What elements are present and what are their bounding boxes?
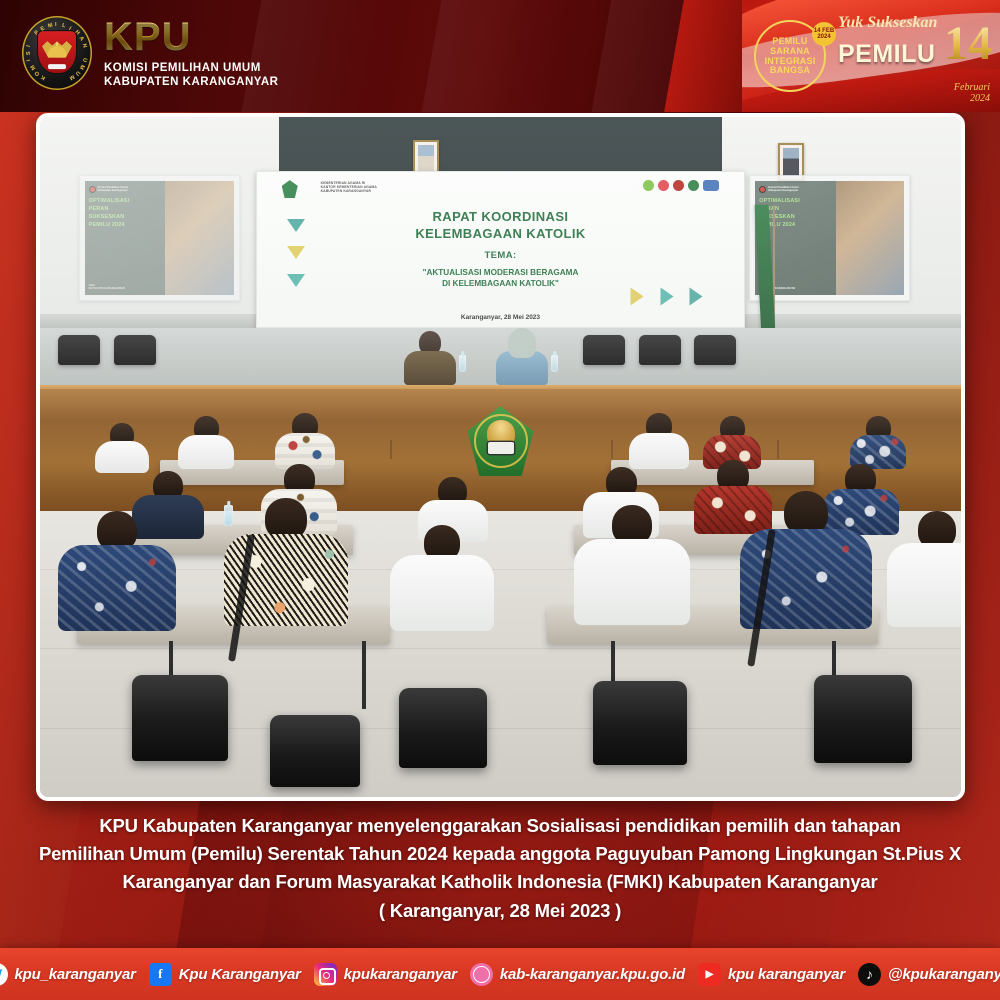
person-torso	[224, 534, 348, 626]
pemilu-day-number: 14	[944, 20, 992, 68]
twitter-handle[interactable]: kpu_karanganyar	[15, 966, 136, 983]
badge-red-icon	[658, 180, 669, 191]
banner-date: Karanganyar, 28 Mei 2023	[257, 314, 743, 321]
kpu-org-line-1: KOMISI PEMILIHAN UMUM	[104, 61, 279, 75]
instagram-icon[interactable]	[314, 963, 337, 986]
social-item-instagram[interactable]: kpukaranganyar	[314, 963, 457, 986]
slide-left: Komisi Pemilihan Umum Kabupaten Karangan…	[85, 181, 234, 295]
foreground-chair-2	[399, 688, 487, 768]
yuk-sukseskan-text: Yuk Sukseskan	[838, 14, 937, 32]
event-photo-frame: Komisi Pemilihan Umum Kabupaten Karangan…	[36, 113, 965, 801]
social-media-bar: kpu_karanganyar f Kpu Karanganyar kpukar…	[0, 948, 1000, 1000]
slide-footer-left: Oleh: KETUA KPU KARANGANYAR	[89, 284, 125, 291]
badge-darkred-icon	[673, 180, 684, 191]
table-leg-2	[362, 641, 366, 709]
banner-title-line-2: KELEMBAGAAN KATOLIK	[257, 226, 743, 242]
kpu-wordmark: KPU	[104, 17, 279, 57]
slide-head-2-l: PERAN	[89, 205, 162, 213]
slide-head-1-l: OPTIMALISASI	[89, 197, 162, 205]
person-torso	[574, 539, 690, 625]
caption-line-3: Karanganyar dan Forum Masyarakat Katholi…	[34, 868, 966, 896]
badge-green-icon	[643, 180, 654, 191]
tiktok-note-glyph: ♪	[866, 967, 873, 981]
presenter-left-body	[404, 351, 456, 385]
slide-head-3-r: SUKSESKAN	[759, 213, 832, 221]
person-torso	[58, 545, 176, 631]
header-sheen-2	[414, 0, 567, 112]
tiktok-icon[interactable]: ♪	[858, 963, 881, 986]
table-bottle-2	[551, 355, 558, 372]
social-item-twitter[interactable]: kpu_karanganyar	[0, 963, 136, 986]
slide-photo-pane-right	[836, 181, 905, 295]
kpu-wordmark-block: KPU KOMISI PEMILIHAN UMUM KABUPATEN KARA…	[104, 17, 279, 89]
pemilu-date-badge: 14 FEB 2024	[812, 22, 836, 46]
event-photo: Komisi Pemilihan Umum Kabupaten Karangan…	[40, 117, 961, 797]
presenter-center-hijab	[508, 328, 536, 358]
kpu-brand-lockup: KOMISI PEMILIHAN UMUM KPU KOMISI PEMILIH…	[22, 16, 279, 90]
audience-person-far-3	[275, 413, 335, 469]
audience-person-near-6	[887, 511, 961, 627]
banner-title-line-1: RAPAT KOORDINASI	[257, 209, 743, 225]
slide-headline-right: OPTIMALISASI PERAN SUKSESKAN PEMILU 2024	[759, 197, 832, 229]
event-backdrop-banner: KEMENTERIAN AGAMA RI KANTOR KEMENTERIAN …	[256, 171, 744, 327]
caption-line-2: Pemilihan Umum (Pemilu) Serentak Tahun 2…	[34, 840, 966, 868]
person-torso	[740, 529, 872, 629]
slide-right: Komisi Pemilihan Umum Kabupaten Karangan…	[755, 181, 904, 295]
pemilu-month-year: Februari 2024	[954, 82, 990, 104]
facebook-icon[interactable]: f	[149, 963, 172, 986]
presenter-center	[496, 331, 548, 385]
table-seam-4	[777, 440, 779, 458]
caption-line-4: ( Karanganyar, 28 Mei 2023 )	[34, 897, 966, 925]
instagram-handle[interactable]: kpukaranganyar	[344, 966, 457, 983]
banner-tema-label: TEMA:	[257, 250, 743, 261]
pemilu-month: Februari	[954, 82, 990, 93]
slide-kpu-seal-icon-right	[759, 186, 766, 193]
head-chair-1	[583, 335, 625, 365]
banner-partner-badges	[643, 180, 719, 191]
banner-tema-text: "AKTUALISASI MODERASI BERAGAMA DI KELEMB…	[257, 267, 743, 289]
foreground-chair-1	[132, 675, 228, 761]
audience-person-far-6	[850, 416, 906, 469]
foreground-chair-4	[814, 675, 912, 763]
banner-title: RAPAT KOORDINASI KELEMBAGAAN KATOLIK	[257, 209, 743, 242]
kpu-org-line-2: KABUPATEN KARANGANYAR	[104, 75, 279, 89]
website-url[interactable]: kab-karanganyar.kpu.go.id	[500, 966, 685, 983]
head-chair-3	[694, 335, 736, 365]
social-item-facebook[interactable]: f Kpu Karanganyar	[149, 963, 301, 986]
banner-chevron-4	[689, 287, 702, 305]
poster-header: KOMISI PEMILIHAN UMUM KPU KOMISI PEMILIH…	[0, 0, 1000, 112]
slide-foot-2-l: KETUA KPU KARANGANYAR	[89, 287, 125, 290]
kpu-org-lines: KOMISI PEMILIHAN UMUM KABUPATEN KARANGAN…	[104, 61, 279, 89]
slide-org-line-2-r: Kabupaten Karanganyar	[768, 189, 798, 192]
foreground-chair-5	[270, 715, 360, 787]
person-torso	[887, 543, 961, 627]
pemilu-headline: PEMILU	[838, 40, 935, 69]
head-chair-5	[114, 335, 156, 365]
badge-blue-icon	[703, 180, 719, 191]
slide-left-text-pane: Komisi Pemilihan Umum Kabupaten Karangan…	[85, 181, 166, 295]
table-bottle-1	[459, 355, 466, 372]
banner-kemenag-logo-icon	[282, 180, 298, 198]
banner-chevron-6	[631, 287, 644, 305]
slide-head-4-l: PEMILU 2024	[89, 221, 162, 229]
youtube-icon[interactable]: ▶	[698, 963, 721, 986]
social-item-tiktok[interactable]: ♪ @kpukaranganyar	[858, 963, 1000, 986]
twitter-icon[interactable]	[0, 963, 8, 986]
social-item-youtube[interactable]: ▶ kpu karanganyar	[698, 963, 845, 986]
ministry-line-3: KABUPATEN KARANGANYAR	[321, 189, 377, 193]
floor-tile-line-2	[40, 648, 961, 649]
pemilu-2024-artwork: PEMILU SARANA INTEGRASI BANGSA 14 FEB 20…	[742, 0, 1000, 112]
person-torso	[178, 435, 234, 469]
audience-person-far-2	[178, 416, 234, 469]
person-torso	[95, 441, 149, 473]
slide-headline-left: OPTIMALISASI PERAN SUKSESKAN PEMILU 2024	[89, 197, 162, 229]
audience-person-near-4	[574, 505, 690, 625]
foreground-chair-3	[593, 681, 687, 765]
banner-tema-line-1: "AKTUALISASI MODERASI BERAGAMA	[257, 267, 743, 278]
slide-org-line-2-l: Kabupaten Karanganyar	[98, 189, 128, 192]
banner-chevron-5	[660, 287, 673, 305]
audience-person-near-3	[390, 525, 494, 631]
slogan-line-4: BANGSA	[770, 66, 810, 76]
audience-person-far-1	[95, 423, 149, 473]
slide-kpu-lockup-right: Komisi Pemilihan Umum Kabupaten Karangan…	[759, 186, 832, 193]
slide-head-2-r: PERAN	[759, 205, 832, 213]
slide-head-1-r: OPTIMALISASI	[759, 197, 832, 205]
caption-line-1: KPU Kabupaten Karanganyar menyelenggarak…	[34, 812, 966, 840]
slide-head-4-r: PEMILU 2024	[759, 221, 832, 229]
emblem-ring	[474, 414, 528, 468]
head-chair-2	[639, 335, 681, 365]
social-item-website[interactable]: kab-karanganyar.kpu.go.id	[470, 963, 685, 986]
youtube-handle[interactable]: kpu karanganyar	[728, 966, 845, 983]
presenter-left	[404, 331, 456, 385]
seal-ring-text: KOMISI PEMILIHAN UMUM	[22, 16, 92, 90]
person-torso	[390, 555, 494, 631]
audience-person-far-4	[629, 413, 689, 469]
table-seam-3	[611, 440, 613, 458]
poster-root: KOMISI PEMILIHAN UMUM KPU KOMISI PEMILIH…	[0, 0, 1000, 1000]
projector-screen-left: Komisi Pemilihan Umum Kabupaten Karangan…	[79, 175, 240, 301]
poster-caption: KPU Kabupaten Karanganyar menyelenggarak…	[0, 812, 1000, 925]
slide-kpu-seal-icon	[89, 186, 96, 193]
slide-photo-pane-left	[165, 181, 234, 295]
slide-kpu-org-right: Komisi Pemilihan Umum Kabupaten Karangan…	[768, 186, 798, 192]
tiktok-handle[interactable]: @kpukaranganyar	[888, 966, 1000, 983]
banner-ministry-text: KEMENTERIAN AGAMA RI KANTOR KEMENTERIAN …	[321, 181, 377, 194]
badge-darkgreen-icon	[688, 180, 699, 191]
slide-head-3-l: SUKSESKAN	[89, 213, 162, 221]
head-chair-4	[58, 335, 100, 365]
audience-person-near-1	[58, 511, 176, 631]
banner-logo-shape	[282, 180, 298, 198]
audience-person-near-2	[224, 498, 348, 626]
slide-kpu-org-left: Komisi Pemilihan Umum Kabupaten Karangan…	[98, 186, 128, 192]
table-seam-2	[390, 440, 392, 458]
facebook-handle[interactable]: Kpu Karanganyar	[179, 966, 301, 983]
banner-tema-line-2: DI KELEMBAGAAN KATOLIK"	[257, 278, 743, 289]
kpu-garuda-seal-icon: KOMISI PEMILIHAN UMUM	[22, 16, 92, 90]
audience-person-near-5	[740, 491, 872, 629]
slide-kpu-lockup-left: Komisi Pemilihan Umum Kabupaten Karangan…	[89, 186, 162, 193]
website-icon[interactable]	[470, 963, 493, 986]
person-torso	[629, 433, 689, 469]
pemilu-year: 2024	[954, 93, 990, 104]
